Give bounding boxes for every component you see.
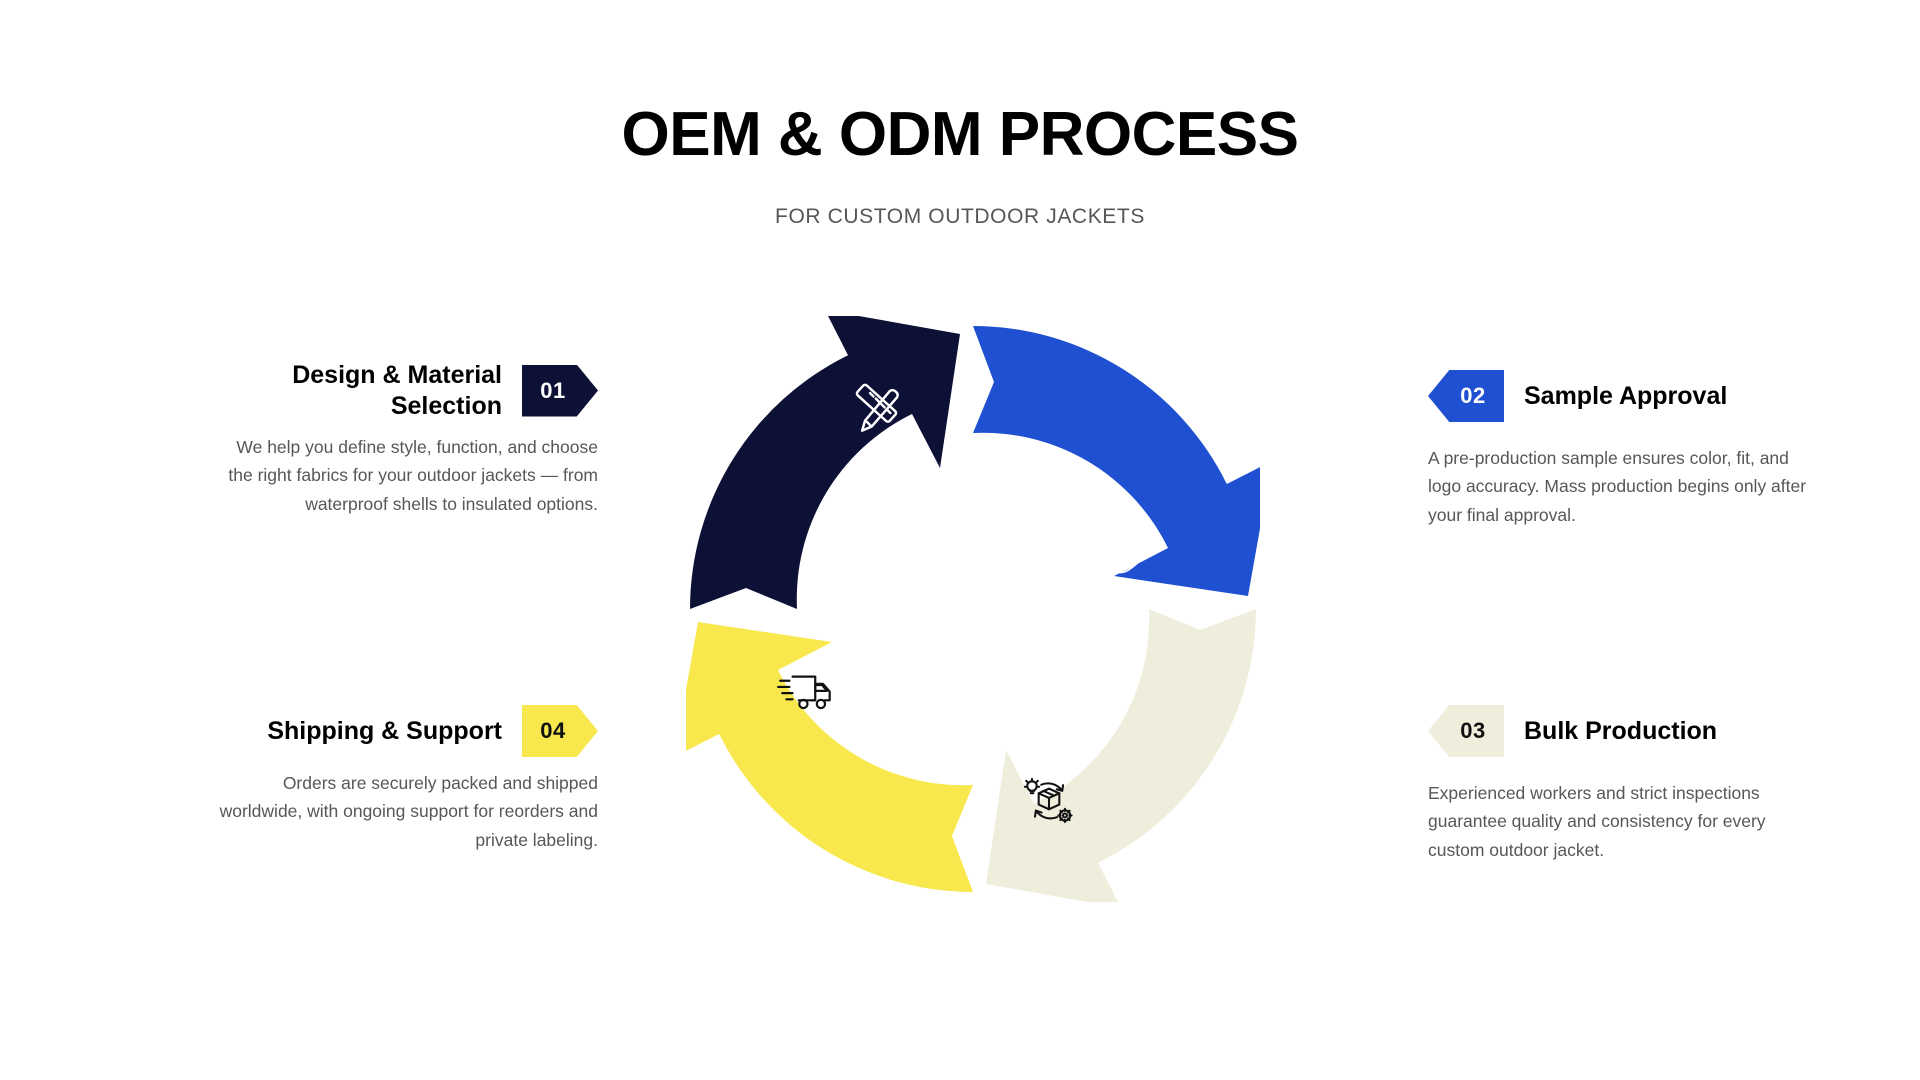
step-title-01: Design & Material Selection [208, 360, 502, 421]
step-badge-04: 04 [522, 705, 598, 757]
step-header-02: 02 Sample Approval [1428, 370, 1818, 422]
step-number-03: 03 [1460, 718, 1485, 744]
cycle-diagram [686, 316, 1260, 902]
step-block-02: 02 Sample Approval A pre-production samp… [1428, 370, 1818, 529]
step-number-01: 01 [540, 378, 565, 404]
step-block-03: 03 Bulk Production Experienced workers a… [1428, 705, 1818, 864]
step-block-01: Design & Material Selection 01 We help y… [208, 360, 598, 518]
step-title-03: Bulk Production [1524, 716, 1818, 747]
process-diagram-stage: Design & Material Selection 01 We help y… [0, 0, 1920, 1080]
delivery-truck-icon [774, 656, 840, 722]
cycle-arrows-svg [686, 316, 1260, 902]
step-header-04: Shipping & Support 04 [208, 705, 598, 757]
step-description-04: Orders are securely packed and shipped w… [208, 757, 598, 854]
step-number-04: 04 [540, 718, 565, 744]
step-badge-01: 01 [522, 365, 598, 417]
step-description-03: Experienced workers and strict inspectio… [1428, 757, 1818, 864]
step-number-02: 02 [1460, 383, 1485, 409]
arrow-segment-03 [986, 609, 1256, 902]
step-badge-02: 02 [1428, 370, 1504, 422]
production-cycle-icon [1016, 768, 1082, 834]
hand-holding-box-icon [1086, 516, 1152, 582]
step-badge-03: 03 [1428, 705, 1504, 757]
step-header-01: Design & Material Selection 01 [208, 360, 598, 421]
step-title-04: Shipping & Support [208, 716, 502, 747]
step-header-03: 03 Bulk Production [1428, 705, 1818, 757]
step-block-04: Shipping & Support 04 Orders are securel… [208, 705, 598, 854]
ruler-pencil-icon [850, 374, 916, 440]
step-description-02: A pre-production sample ensures color, f… [1428, 422, 1818, 529]
step-title-02: Sample Approval [1524, 381, 1818, 412]
step-description-01: We help you define style, function, and … [208, 421, 598, 518]
arrow-segment-01 [690, 316, 960, 609]
